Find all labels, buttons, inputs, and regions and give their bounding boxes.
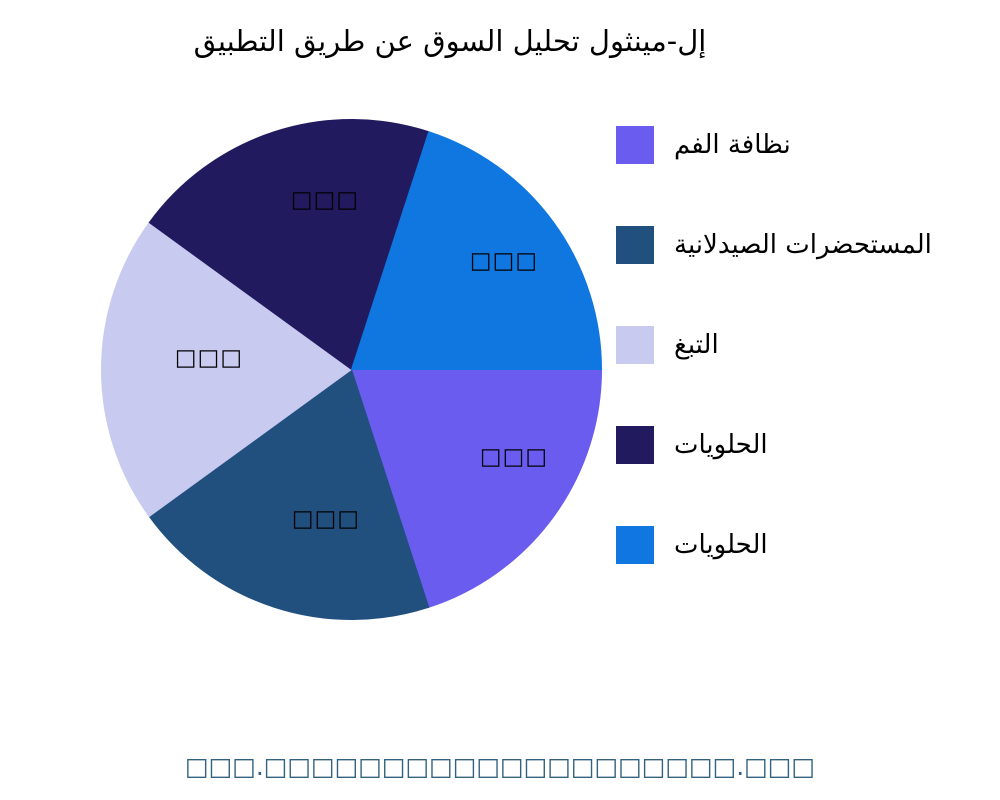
legend-color-swatch <box>616 526 654 564</box>
pie-svg <box>101 119 602 620</box>
legend-item[interactable]: الحلويات <box>616 522 768 568</box>
pie-chart-figure: إل-مينثول تحليل السوق عن طريق التطبيق □□… <box>0 0 1000 800</box>
legend-item[interactable]: الحلويات <box>616 422 768 468</box>
legend-item-label: نظافة الفم <box>674 130 791 160</box>
chart-legend: نظافة الفمالمستحضرات الصيدلانيةالتبغالحل… <box>616 118 1000 588</box>
footer-url-text: □□□.□□□□□□□□□□□□□□□□□□□□.□□□ <box>0 752 1000 781</box>
legend-item[interactable]: المستحضرات الصيدلانية <box>616 222 932 268</box>
pie-plot-area: □□□□□□□□□□□□□□□ <box>101 119 602 620</box>
legend-item-label: المستحضرات الصيدلانية <box>674 230 932 260</box>
legend-item[interactable]: التبغ <box>616 322 719 368</box>
legend-item[interactable]: نظافة الفم <box>616 122 791 168</box>
legend-color-swatch <box>616 126 654 164</box>
chart-title: إل-مينثول تحليل السوق عن طريق التطبيق <box>0 24 900 58</box>
legend-color-swatch <box>616 326 654 364</box>
legend-color-swatch <box>616 226 654 264</box>
pie-slice-group <box>101 120 601 620</box>
legend-color-swatch <box>616 426 654 464</box>
legend-item-label: التبغ <box>674 330 719 360</box>
legend-item-label: الحلويات <box>674 530 768 560</box>
legend-item-label: الحلويات <box>674 430 768 460</box>
